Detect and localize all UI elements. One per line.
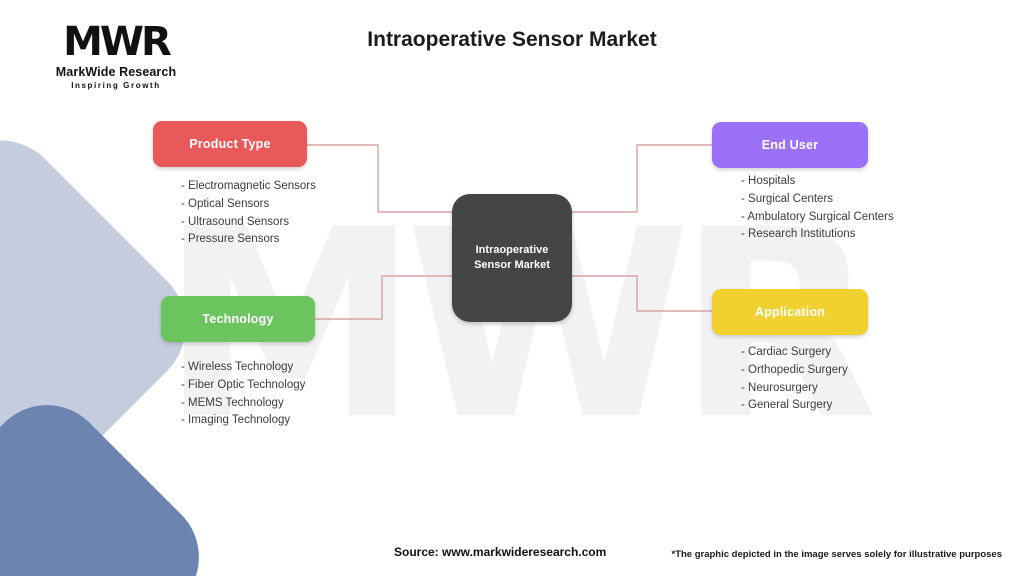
connector-application [572, 276, 712, 311]
list-item: - Imaging Technology [181, 412, 305, 430]
list-item: - Fiber Optic Technology [181, 377, 305, 395]
node-end-user-label: End User [762, 138, 818, 152]
list-application: - Cardiac Surgery - Orthopedic Surgery -… [741, 344, 848, 415]
list-item: - Wireless Technology [181, 359, 305, 377]
list-technology: - Wireless Technology - Fiber Optic Tech… [181, 359, 305, 430]
list-item: - Electromagnetic Sensors [181, 178, 316, 196]
node-technology-label: Technology [202, 312, 273, 326]
list-item: - Pressure Sensors [181, 231, 316, 249]
node-product-type-label: Product Type [189, 137, 270, 151]
list-item: - Cardiac Surgery [741, 344, 848, 362]
list-product-type: - Electromagnetic Sensors - Optical Sens… [181, 178, 316, 249]
source-label: Source: www.markwideresearch.com [394, 545, 606, 559]
list-item: - MEMS Technology [181, 395, 305, 413]
list-item: - Orthopedic Surgery [741, 362, 848, 380]
diagram-canvas: MWR MWR MarkWide Research Inspiring Grow… [0, 0, 1024, 576]
connector-technology [315, 276, 452, 319]
node-technology[interactable]: Technology [161, 296, 315, 342]
hub-label-line1: Intraoperative [476, 244, 549, 256]
node-application[interactable]: Application [712, 289, 868, 335]
hub-label: Intraoperative Sensor Market [468, 243, 556, 273]
connector-product-type [307, 145, 452, 212]
list-item: - Ambulatory Surgical Centers [741, 209, 894, 227]
list-end-user: - Hospitals - Surgical Centers - Ambulat… [741, 173, 894, 244]
list-item: - Optical Sensors [181, 196, 316, 214]
list-item: - Research Institutions [741, 226, 894, 244]
hub-node[interactable]: Intraoperative Sensor Market [452, 194, 572, 322]
list-item: - General Surgery [741, 397, 848, 415]
list-item: - Hospitals [741, 173, 894, 191]
node-product-type[interactable]: Product Type [153, 121, 307, 167]
connector-end-user [572, 145, 712, 212]
list-item: - Surgical Centers [741, 191, 894, 209]
node-end-user[interactable]: End User [712, 122, 868, 168]
list-item: - Neurosurgery [741, 380, 848, 398]
disclaimer-note: *The graphic depicted in the image serve… [672, 549, 1003, 560]
hub-label-line2: Sensor Market [474, 259, 550, 271]
node-application-label: Application [755, 305, 825, 319]
list-item: - Ultrasound Sensors [181, 214, 316, 232]
